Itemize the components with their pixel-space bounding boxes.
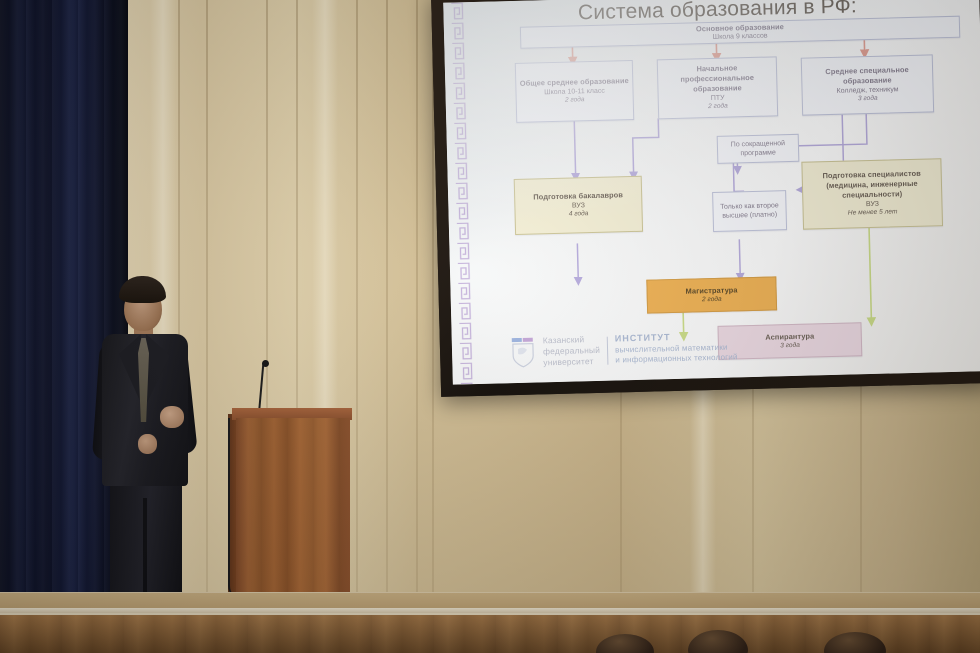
- flow-node-postgraduate: Аспирантура 3 года: [717, 322, 862, 360]
- institute-name: ИНСТИТУТ вычислительной математики и инф…: [615, 330, 738, 366]
- projection-screen-frame: Система образования в РФ:: [431, 0, 980, 397]
- curtain-fold: [416, 0, 418, 612]
- lecture-hall-photo: Система образования в РФ:: [0, 0, 980, 653]
- university-name: Казанский федеральный университет: [543, 334, 601, 368]
- flow-node-vocational: Начальное профессиональное образование П…: [657, 56, 778, 119]
- flow-node-specialist: Подготовка специалистов (медицина, инжен…: [801, 158, 943, 230]
- microphone-icon: [262, 360, 269, 367]
- kfu-crest-icon: [510, 337, 537, 368]
- flow-node-general-secondary: Общее среднее образование Школа 10-11 кл…: [515, 60, 634, 123]
- flow-node-bachelor: Подготовка бакалавров ВУЗ 4 года: [514, 176, 643, 235]
- curtain-fold: [386, 0, 388, 612]
- logo-divider: [607, 336, 609, 364]
- flow-node-secondary-specialized: Среднее специальное образование Колледж,…: [801, 54, 934, 115]
- microphone-cable: [228, 418, 240, 598]
- flow-node-short-program: По сокращенной программе: [717, 134, 800, 164]
- presenter: [86, 276, 206, 616]
- kfu-logo-block: Казанский федеральный университет ИНСТИТ…: [510, 330, 738, 369]
- presenter-right-hand: [160, 406, 184, 428]
- presenter-legs: [110, 476, 182, 604]
- wooden-podium: [236, 418, 350, 608]
- curtain-fold: [356, 0, 358, 612]
- presenter-hair: [119, 276, 166, 303]
- flow-node-master: Магистратура 2 года: [646, 276, 777, 313]
- curtain-fold: [206, 0, 208, 612]
- presentation-slide: Система образования в РФ:: [443, 0, 980, 385]
- projection-screen-surface: Система образования в РФ:: [443, 0, 980, 385]
- flow-node-second-higher-paid: Только как второе высшее (платно): [712, 190, 787, 232]
- presenter-left-hand: [138, 434, 157, 454]
